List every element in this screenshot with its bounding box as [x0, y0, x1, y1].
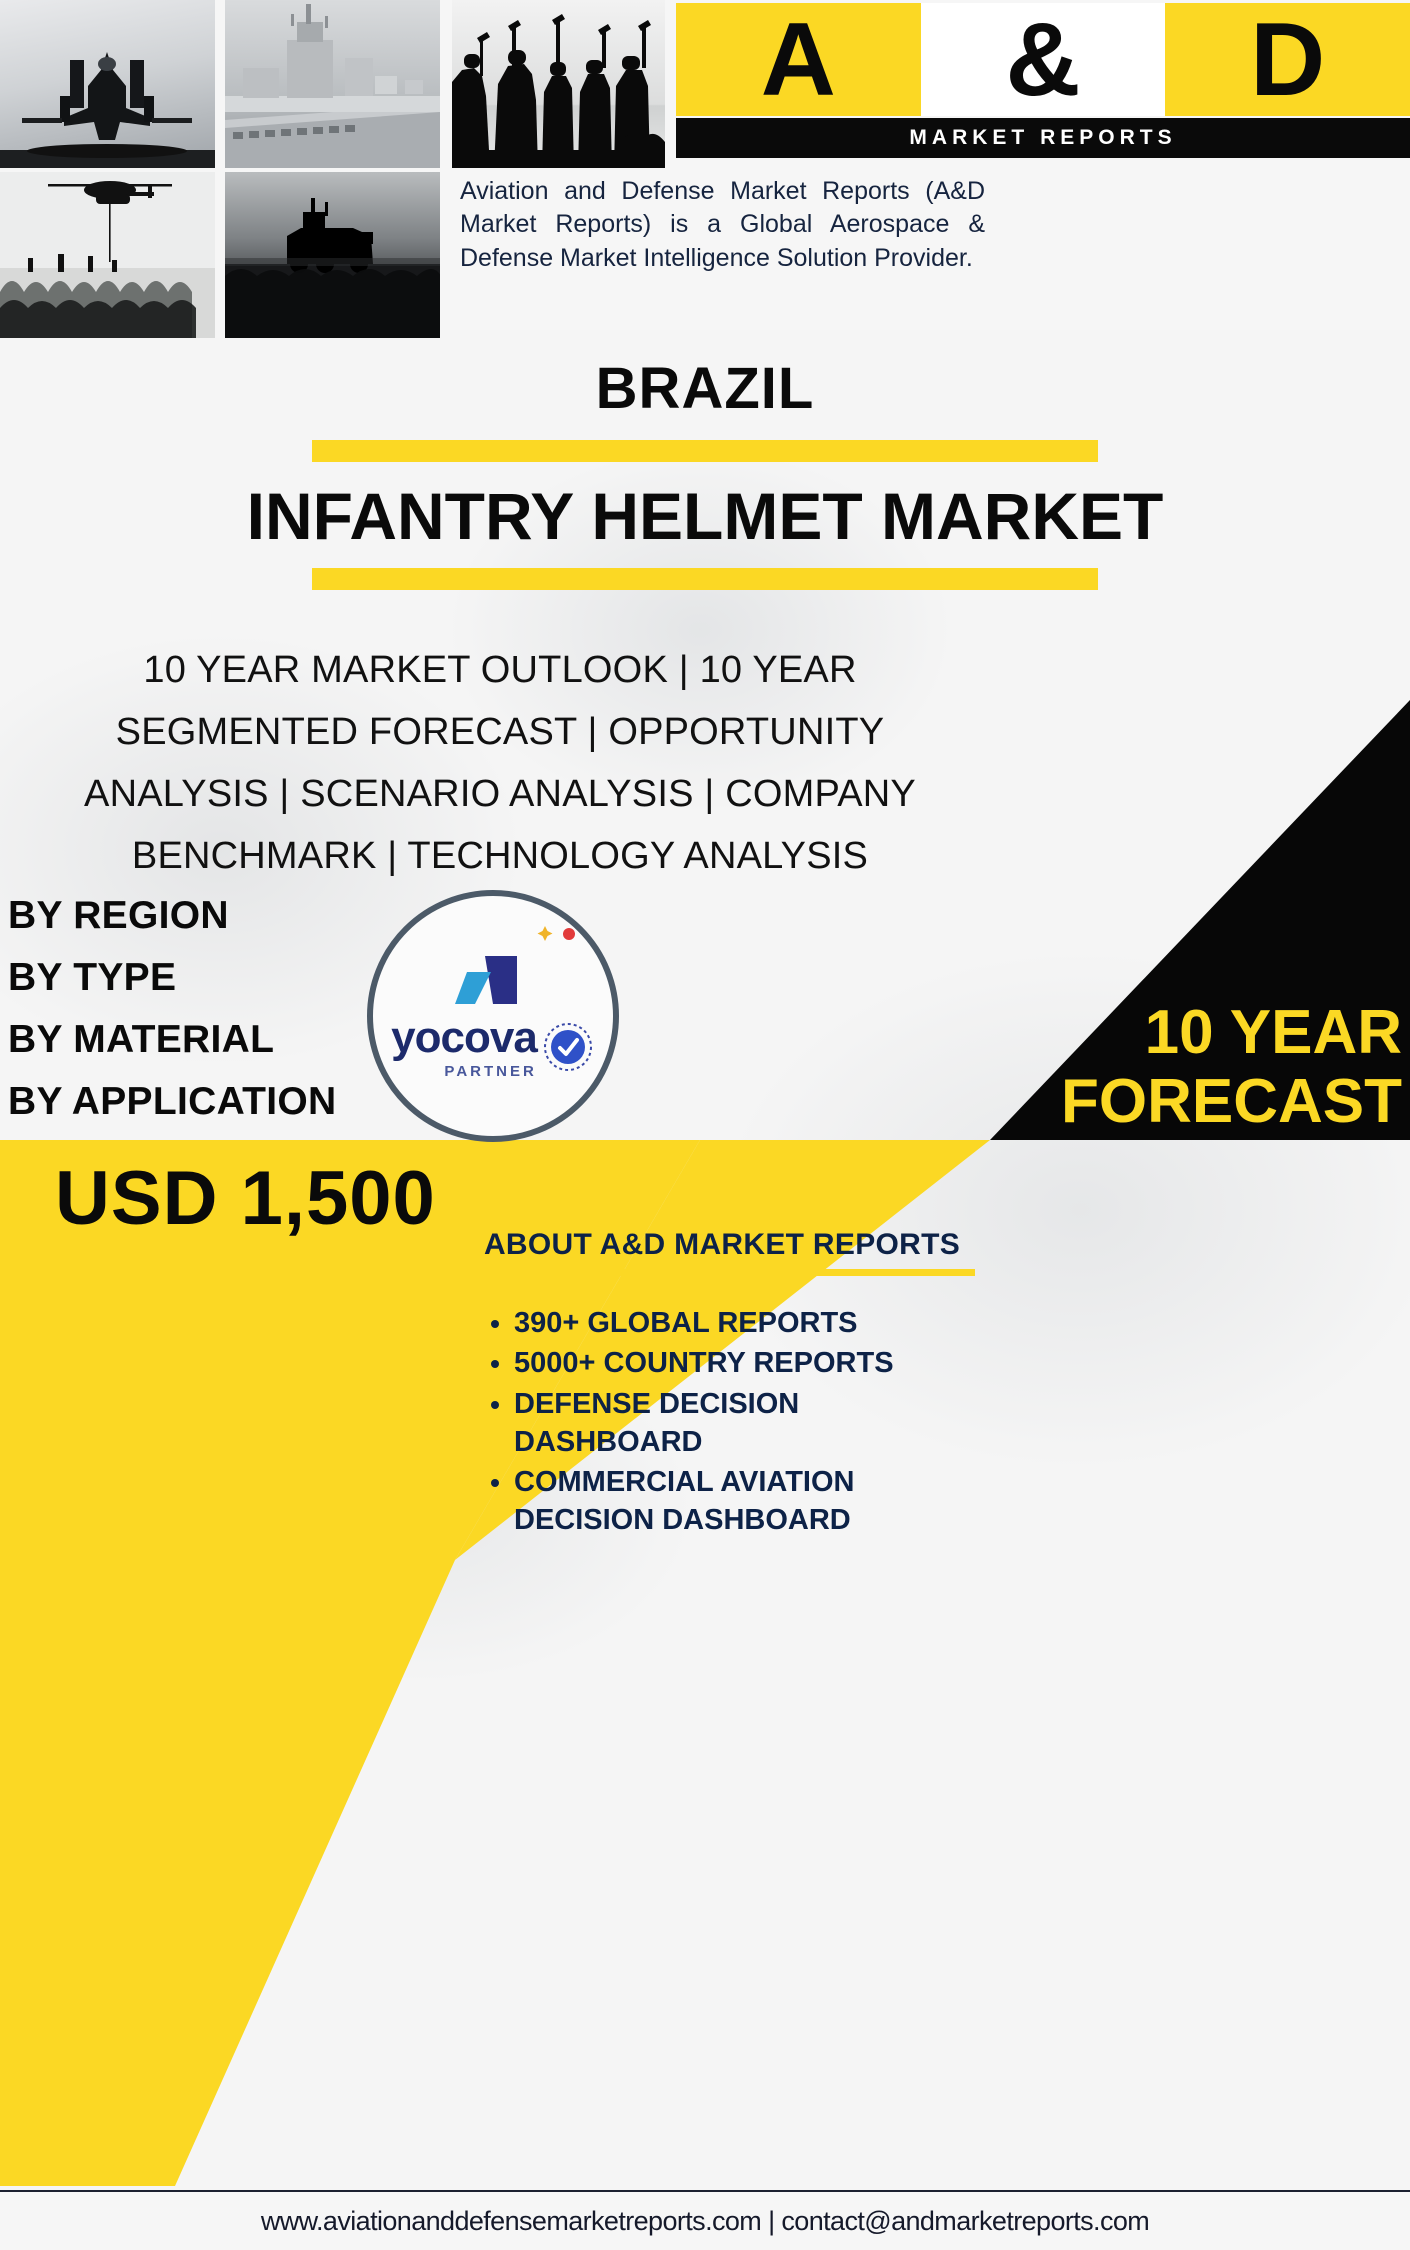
- logo-letter-row: A & D: [676, 3, 1410, 116]
- title-rule-bottom: [312, 568, 1098, 590]
- forecast-line-1: 10 YEAR: [850, 998, 1402, 1067]
- about-heading: ABOUT A&D MARKET REPORTS: [462, 1228, 982, 1262]
- title-block: BRAZIL INFANTRY HELMET MARKET: [0, 355, 1410, 590]
- list-item: DEFENSE DECISION DASHBOARD: [514, 1385, 982, 1462]
- list-item: BY MATERIAL: [8, 1009, 337, 1071]
- yocova-partner-badge: yocova PARTNER: [367, 890, 619, 1142]
- title-rule-top: [312, 440, 1098, 462]
- aircraft-carrier-photo: [225, 0, 440, 168]
- about-bullet-list: 390+ GLOBAL REPORTS 5000+ COUNTRY REPORT…: [462, 1304, 982, 1540]
- forecast-badge: 10 YEAR FORECAST: [850, 998, 1410, 1137]
- price-label: USD 1,500: [55, 1155, 436, 1242]
- footer-contact-bar: www.aviationanddefensemarketreports.com …: [0, 2190, 1410, 2250]
- list-item: COMMERCIAL AVIATION DECISION DASHBOARD: [514, 1463, 982, 1540]
- yocova-text-column: yocova PARTNER: [391, 1016, 537, 1079]
- yocova-wordmark: yocova: [391, 1016, 537, 1060]
- report-cover-page: A & D MARKET REPORTS Aviation and Defens…: [0, 0, 1410, 2250]
- logo-subtitle-text: MARKET REPORTS: [909, 126, 1176, 150]
- list-item: 5000+ COUNTRY REPORTS: [514, 1344, 982, 1382]
- market-title: INFANTRY HELMET MARKET: [0, 478, 1410, 554]
- logo-cell-ampersand: &: [921, 3, 1166, 116]
- list-item: BY REGION: [8, 885, 337, 947]
- armored-vehicle-photo: [225, 172, 440, 338]
- fighter-jet-photo: [0, 0, 215, 168]
- yocova-partner-label: PARTNER: [444, 1064, 536, 1079]
- about-section: ABOUT A&D MARKET REPORTS 390+ GLOBAL REP…: [462, 1228, 982, 1542]
- country-title: BRAZIL: [0, 355, 1410, 422]
- list-item: BY TYPE: [8, 947, 337, 1009]
- report-scope-subtitle: 10 YEAR MARKET OUTLOOK | 10 YEAR SEGMENT…: [30, 640, 970, 888]
- about-underline: [462, 1269, 975, 1276]
- helicopter-rappel-photo: [0, 172, 215, 338]
- yocova-wordmark-row: yocova PARTNER: [391, 1016, 595, 1079]
- company-intro-paragraph: Aviation and Defense Market Reports (A&D…: [460, 175, 985, 275]
- ad-market-reports-logo: A & D MARKET REPORTS: [676, 0, 1410, 160]
- logo-letter-d: D: [1250, 8, 1325, 112]
- yocova-chevron-icon: [433, 954, 553, 1010]
- sparkle-dot-icon: [535, 922, 595, 948]
- logo-letter-a: A: [761, 8, 836, 112]
- logo-cell-a: A: [676, 3, 921, 116]
- logo-cell-d: D: [1165, 3, 1410, 116]
- forecast-line-2: FORECAST: [850, 1067, 1402, 1136]
- soldiers-silhouette-photo: [452, 0, 665, 168]
- footer-contact-text: www.aviationanddefensemarketreports.com …: [261, 2206, 1149, 2237]
- segmentation-list: BY REGION BY TYPE BY MATERIAL BY APPLICA…: [8, 885, 337, 1133]
- list-item: 390+ GLOBAL REPORTS: [514, 1304, 982, 1342]
- header-photo-strip: A & D MARKET REPORTS Aviation and Defens…: [0, 0, 1410, 338]
- verified-check-seal-icon: [541, 1020, 595, 1074]
- logo-letter-ampersand: &: [1005, 8, 1080, 112]
- logo-subtitle-bar: MARKET REPORTS: [676, 118, 1410, 158]
- list-item: BY APPLICATION: [8, 1071, 337, 1133]
